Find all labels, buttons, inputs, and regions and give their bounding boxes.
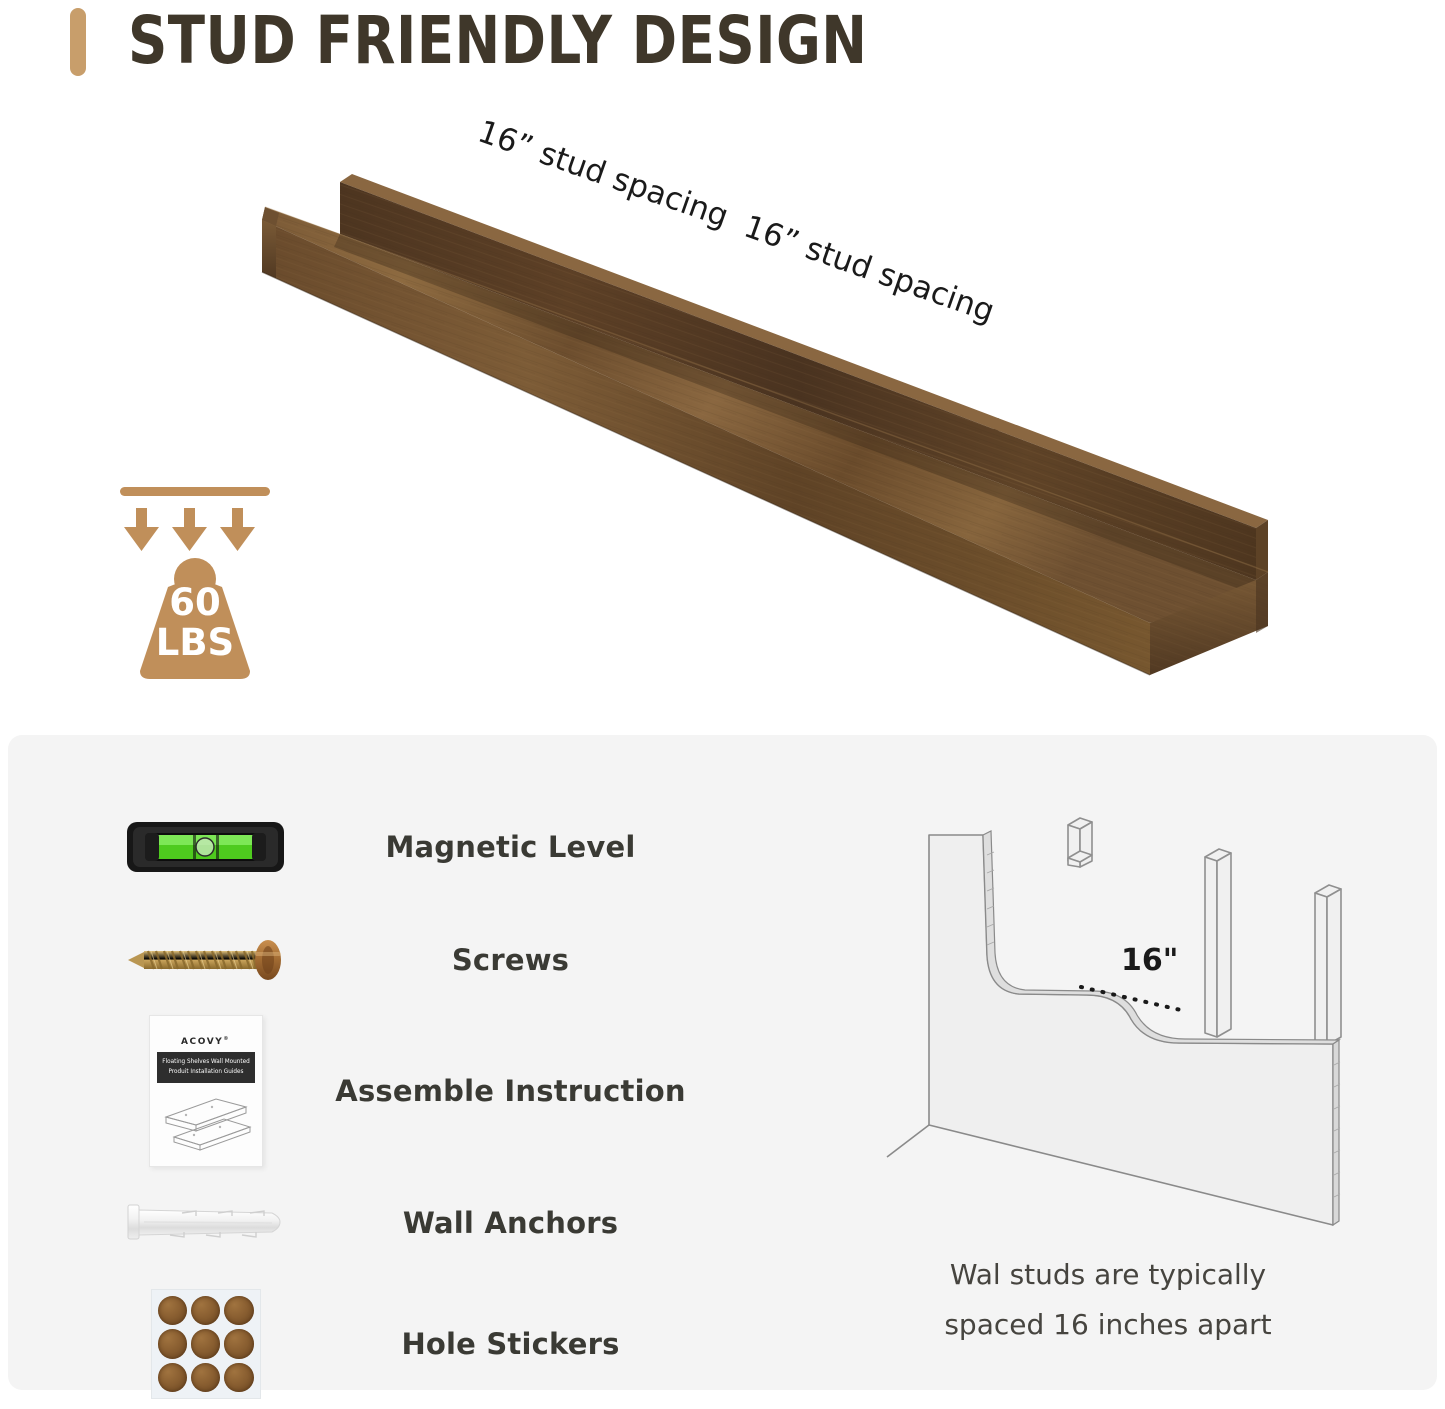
list-item: Wall Anchors — [118, 1166, 758, 1279]
magnetic-level-icon — [118, 790, 293, 903]
hole-sticker-dot — [191, 1296, 220, 1325]
accessory-label: Screws — [293, 943, 758, 977]
hole-sticker-dot — [158, 1363, 187, 1392]
list-item: Hole Stickers — [118, 1279, 758, 1409]
wall-stud-diagram: 16" Wal studs are typically spaced 16 in… — [863, 795, 1363, 1355]
list-item: ACOVY® Floating Shelves Wall Mounted Pro… — [118, 1016, 758, 1166]
hole-sticker-dot — [224, 1329, 253, 1358]
hole-sticker-dot — [158, 1296, 187, 1325]
accessory-label: Magnetic Level — [293, 830, 758, 864]
hole-sticker-dot — [158, 1329, 187, 1358]
down-arrow-icon — [220, 508, 255, 551]
hole-sticker-dot — [191, 1363, 220, 1392]
wall-stud — [1205, 849, 1231, 1037]
weight-capacity-badge: 60 LBS — [108, 475, 298, 685]
hole-sticker-dot — [224, 1363, 253, 1392]
caption-line-2: spaced 16 inches apart — [863, 1300, 1353, 1350]
screw-icon — [118, 903, 293, 1016]
page-header: STUD FRIENDLY DESIGN — [0, 0, 1445, 96]
booklet-title-line-2: Produit Installation Guides — [159, 1067, 252, 1077]
booklet-shelf-art — [160, 1091, 252, 1151]
booklet-title-line-1: Floating Shelves Wall Mounted — [159, 1057, 252, 1067]
down-arrow-icon — [124, 508, 159, 551]
accessories-panel: Magnetic Level — [8, 735, 1437, 1390]
title-accent-bar — [70, 8, 86, 76]
wall-stud — [1315, 885, 1341, 1045]
dimension-label-right: 16” stud spacing — [739, 209, 999, 330]
instruction-booklet-icon: ACOVY® Floating Shelves Wall Mounted Pro… — [118, 1016, 293, 1166]
hole-sticker-dot — [191, 1329, 220, 1358]
wall-diagram-caption: Wal studs are typically spaced 16 inches… — [863, 1250, 1353, 1350]
wall-anchor-icon — [118, 1166, 293, 1279]
accessory-label: Wall Anchors — [293, 1206, 758, 1240]
weight-unit: LBS — [156, 621, 234, 664]
caption-line-1: Wal studs are typically — [863, 1250, 1353, 1300]
list-item: Magnetic Level — [118, 790, 758, 903]
page-title: STUD FRIENDLY DESIGN — [128, 3, 867, 79]
measure-label: 16" — [1121, 943, 1178, 978]
down-arrow-icon — [172, 508, 207, 551]
accessory-label: Hole Stickers — [293, 1327, 758, 1361]
load-bar — [120, 487, 270, 496]
list-item: Screws — [118, 903, 758, 1016]
dimension-label-left: 16” stud spacing — [473, 114, 733, 235]
accessory-label: Assemble Instruction — [293, 1074, 758, 1108]
drywall-sheet — [887, 831, 1340, 1225]
hole-sticker-sheet-icon — [118, 1279, 293, 1409]
weight-badge-svg: 60 LBS — [108, 475, 298, 685]
booklet-brand: ACOVY® — [150, 1036, 262, 1047]
booklet-title-band: Floating Shelves Wall Mounted Produit In… — [157, 1052, 255, 1083]
hole-sticker-dot — [224, 1296, 253, 1325]
wall-stud-diagram-svg: 16" — [863, 795, 1363, 1245]
accessories-list: Magnetic Level — [118, 790, 758, 1409]
weight-value: 60 — [169, 581, 221, 624]
